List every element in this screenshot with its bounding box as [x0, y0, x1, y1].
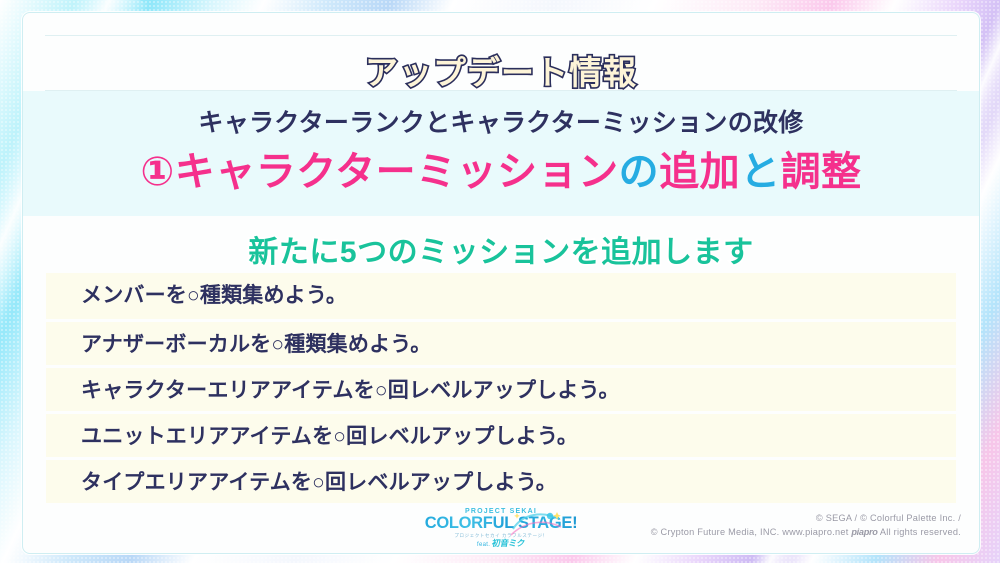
subtitle-segment-4: と	[740, 150, 781, 194]
subtitle-band: キャラクターランクとキャラクターミッションの改修 ①キャラクターミッションの追加…	[23, 91, 979, 216]
subtitle-segment-5: 調整	[781, 150, 862, 194]
list-item: タイプエリアアイテムを○回レベルアップしよう。	[46, 457, 956, 503]
project-sekai-logo: PROJECT SEKAI COLORFUL STAGE! プロジェクトセカイ …	[421, 507, 581, 549]
slide-root: アップデート情報 キャラクターランクとキャラクターミッションの改修 ①キャラクタ…	[0, 0, 1000, 563]
subtitle-segment-2: の	[619, 150, 660, 194]
copyright-text: © SEGA / © Colorful Palette Inc. / © Cry…	[651, 511, 961, 539]
title-divider-top	[45, 35, 957, 36]
list-item: アナザーボーカルを○種類集めよう。	[46, 319, 956, 365]
subtitle-line-1: キャラクターランクとキャラクターミッションの改修	[23, 103, 979, 139]
copyright-line-1: © SEGA / © Colorful Palette Inc. /	[651, 511, 961, 525]
page-title: アップデート情報	[23, 46, 979, 94]
logo-main-text: COLORFUL STAGE!	[421, 515, 581, 532]
section-heading: 新たに5つのミッションを追加します	[23, 227, 979, 271]
title-block: アップデート情報	[23, 13, 979, 91]
mission-list: メンバーを○種類集めよう。 アナザーボーカルを○種類集めよう。 キャラクターエリ…	[46, 273, 956, 503]
list-item: メンバーを○種類集めよう。	[46, 273, 956, 319]
piapro-logo-mark: piapro	[851, 527, 877, 537]
logo-feat-text: feat.	[477, 542, 490, 548]
copyright-line-2: © Crypton Future Media, INC. www.piapro.…	[651, 525, 961, 539]
footer: PROJECT SEKAI COLORFUL STAGE! プロジェクトセカイ …	[23, 503, 979, 553]
logo-feat-line: feat. 初音ミク	[421, 539, 581, 550]
logo-miku-text: 初音ミク	[491, 539, 525, 548]
subtitle-segment-1: ①キャラクターミッション	[140, 150, 618, 194]
copyright-line-2-a: © Crypton Future Media, INC. www.piapro.…	[651, 527, 849, 537]
subtitle-line-2: ①キャラクターミッションの追加と調整	[23, 139, 979, 197]
copyright-line-2-b: All rights reserved.	[880, 527, 961, 537]
subtitle-segment-3: 追加	[659, 150, 740, 194]
list-item: ユニットエリアアイテムを○回レベルアップしよう。	[46, 411, 956, 457]
content-card: アップデート情報 キャラクターランクとキャラクターミッションの改修 ①キャラクタ…	[22, 12, 980, 554]
list-item: キャラクターエリアアイテムを○回レベルアップしよう。	[46, 365, 956, 411]
